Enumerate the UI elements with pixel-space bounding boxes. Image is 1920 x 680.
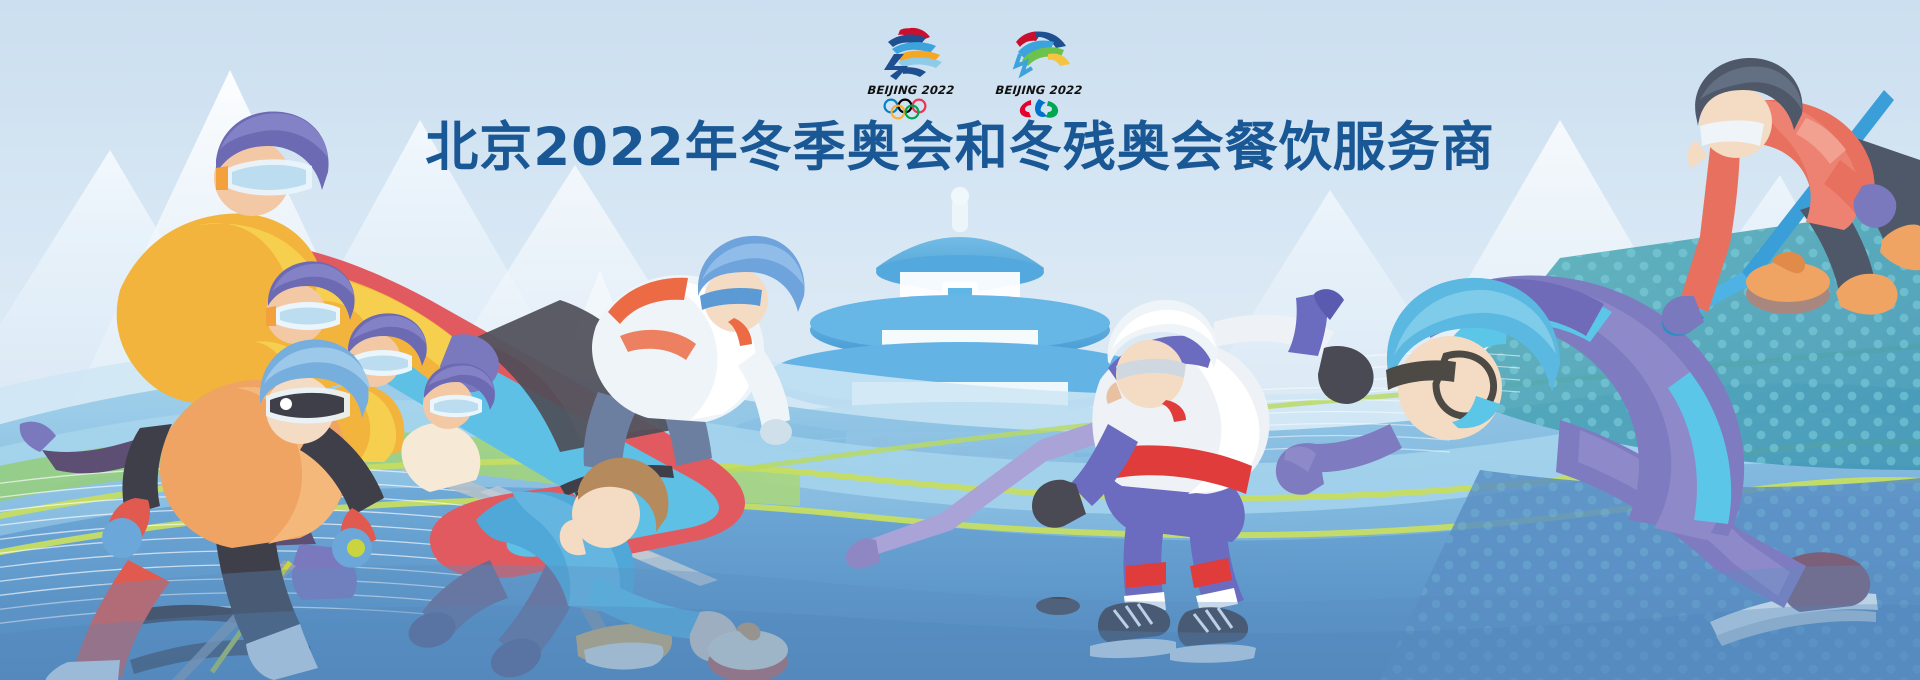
paralympic-wordmark: BEIJING 2022 [989,83,1090,97]
beijing-2022-catering-banner: BEIJING 2022 BEIJING 20 [0,0,1920,680]
olympic-wordmark: BEIJING 2022 [861,83,962,97]
emblem-row: BEIJING 2022 BEIJING 20 [860,24,1090,124]
beijing-2022-olympic-emblem: BEIJING 2022 [861,24,961,120]
olympic-emblem-mark [874,24,948,82]
paralympic-emblem-mark [1002,24,1076,82]
beijing-2022-paralympic-emblem: BEIJING 2022 [989,24,1089,120]
page-title: 北京2022年冬季奥会和冬残奥会餐饮服务商 [0,120,1920,175]
